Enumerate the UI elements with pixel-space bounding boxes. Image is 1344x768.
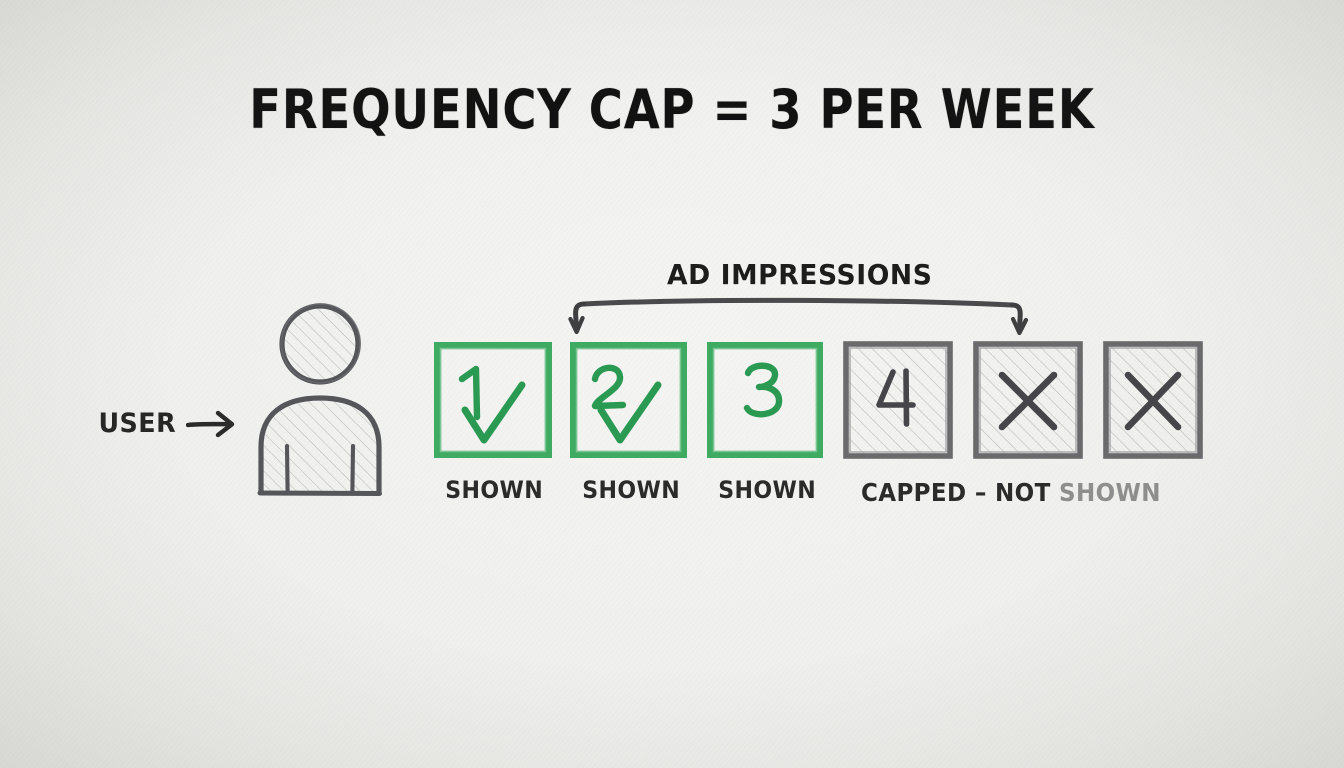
box-number-4-stem (906, 371, 907, 424)
impression-box-6[interactable] (1106, 344, 1200, 456)
impression-box-3[interactable] (710, 345, 820, 455)
caption-capped-prefix: CAPPED – NOT (861, 478, 1059, 507)
box-number-2 (595, 368, 623, 406)
impression-box-4[interactable] (846, 344, 950, 456)
caption-box-2: SHOWN (582, 476, 680, 504)
impression-box-5[interactable] (976, 344, 1080, 456)
impression-boxes-group (0, 0, 1344, 768)
caption-capped: CAPPED – NOT SHOWN (861, 478, 1161, 507)
impression-box-1[interactable] (437, 345, 549, 455)
box-number-3 (747, 366, 779, 415)
caption-box-3: SHOWN (718, 476, 816, 504)
caption-box-1: SHOWN (445, 476, 543, 504)
caption-capped-faded: SHOWN (1059, 478, 1161, 507)
diagram-canvas: FREQUENCY CAP = 3 PER WEEK USER AD IMPRE… (0, 0, 1344, 768)
impression-box-2[interactable] (573, 345, 684, 455)
